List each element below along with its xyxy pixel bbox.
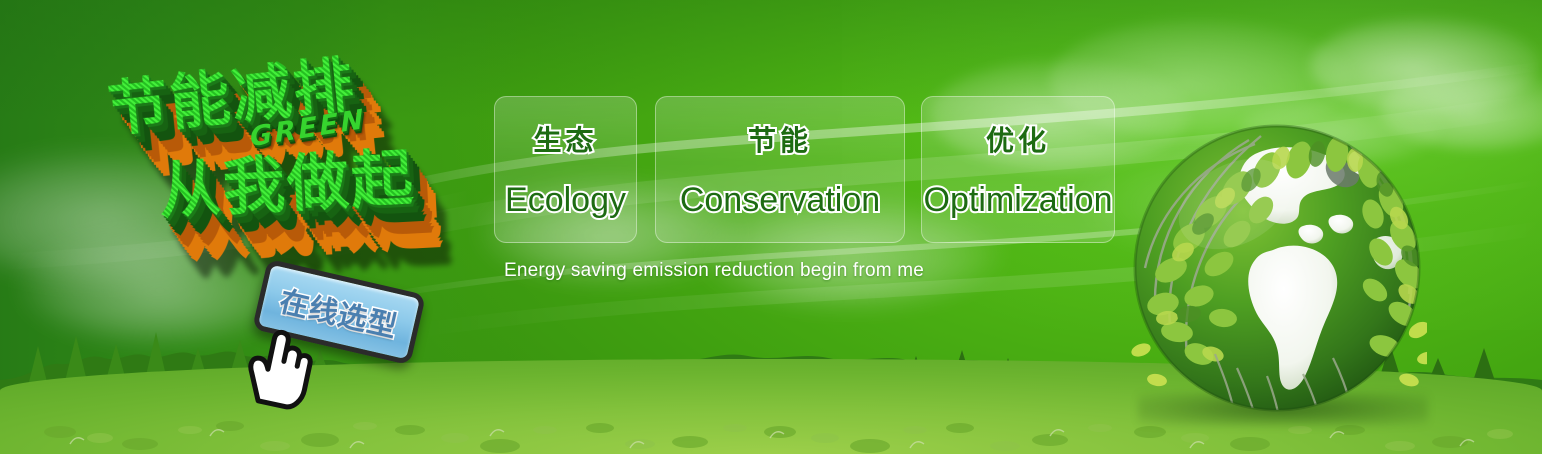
feature-card-en-label: Ecology	[505, 181, 626, 220]
feature-card-cn-label: 优化	[986, 119, 1050, 159]
feature-card-cn-label: 生态	[533, 119, 597, 159]
feature-card-cn-label: 节能	[748, 119, 812, 159]
feature-card-optimization[interactable]: 优化 Optimization	[921, 96, 1115, 243]
feature-card-en-label: Optimization	[924, 181, 1113, 220]
feature-card-conservation[interactable]: 节能 Conservation	[655, 96, 905, 243]
feature-card-ecology[interactable]: 生态 Ecology	[494, 96, 637, 243]
tagline: Energy saving emission reduction begin f…	[504, 260, 924, 282]
feature-card-en-label: Conservation	[680, 181, 880, 220]
eco-hero-banner: 节能减排 GREEN 从我做起 在线选型 生态 Ecology 节能 Conse…	[0, 0, 1542, 454]
green-leafy-globe-icon	[1127, 118, 1427, 418]
